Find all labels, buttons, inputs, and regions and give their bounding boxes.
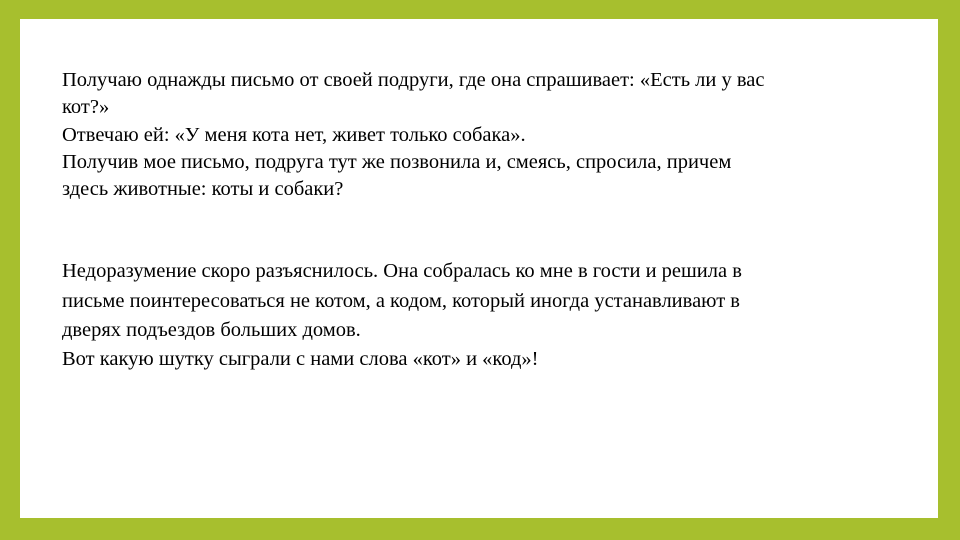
slide-content-area: Получаю однажды письмо от своей подруги,…	[20, 19, 938, 518]
body-text-block: Получаю однажды письмо от своей подруги,…	[62, 67, 882, 374]
paragraph-two-line-1: Недоразумение скоро разъяснилось. Она со…	[62, 257, 882, 286]
paragraph-two-line-2: письме поинтересоваться не котом, а кодо…	[62, 287, 882, 316]
paragraph-one-line-2: кот?»	[62, 94, 882, 121]
paragraph-two: Недоразумение скоро разъяснилось. Она со…	[62, 257, 882, 374]
slide: Получаю однажды письмо от своей подруги,…	[0, 0, 960, 540]
paragraph-two-line-3: дверях подъездов больших домов.	[62, 316, 882, 345]
paragraph-one-line-5: здесь животные: коты и собаки?	[62, 176, 882, 203]
paragraph-one-line-3: Отвечаю ей: «У меня кота нет, живет толь…	[62, 122, 882, 149]
paragraph-one-line-1: Получаю однажды письмо от своей подруги,…	[62, 67, 882, 94]
paragraph-one-line-4: Получив мое письмо, подруга тут же позво…	[62, 149, 882, 176]
paragraph-two-line-4: Вот какую шутку сыграли с нами слова «ко…	[62, 345, 882, 374]
paragraph-one: Получаю однажды письмо от своей подруги,…	[62, 67, 882, 203]
paragraph-gap	[62, 203, 882, 257]
